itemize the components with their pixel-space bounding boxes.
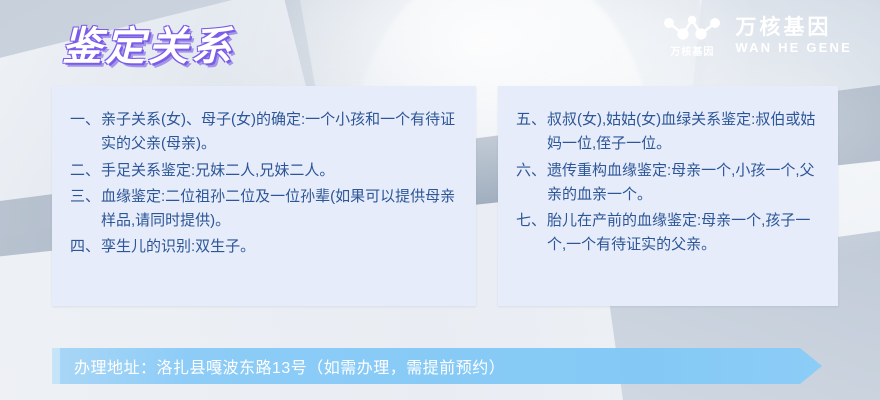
list-item: 三、 血缘鉴定:二位祖孙二位及一位孙辈(如果可以提供母亲样品,请同时提供)。 <box>70 185 458 234</box>
list-item-text: 遗传重构血缘鉴定:母亲一个,小孩一个,父亲的血亲一个。 <box>547 159 820 208</box>
content-panels: 一、 亲子关系(女)、母子(女)的确定:一个小孩和一个有待证实的父亲(母亲)。 … <box>52 86 838 306</box>
header: 鉴定关系 <box>0 0 880 86</box>
brand-mark-label: 万核基因 <box>670 43 714 58</box>
relationship-list-right: 五、 叔叔(女),姑姑(女)血绿关系鉴定:叔伯或姑妈一位,侄子一位。 六、 遗传… <box>516 108 820 258</box>
molecule-nodes-icon <box>663 14 721 40</box>
list-item-number: 七、 <box>516 209 547 233</box>
relationship-panel-left: 一、 亲子关系(女)、母子(女)的确定:一个小孩和一个有待证实的父亲(母亲)。 … <box>52 86 476 306</box>
poster-root: 鉴定关系 <box>0 0 880 400</box>
brand-logo: 万核基因 万核基因 WAN HE GENE <box>663 14 852 58</box>
address-banner: 办理地址：洛扎县嘎波东路13号（如需办理，需提前预约） <box>52 348 822 384</box>
list-item: 二、 手足关系鉴定:兄妹二人,兄妹二人。 <box>70 159 458 183</box>
list-item-text: 亲子关系(女)、母子(女)的确定:一个小孩和一个有待证实的父亲(母亲)。 <box>101 108 458 157</box>
address-banner-left-cap <box>52 348 60 384</box>
brand-names: 万核基因 WAN HE GENE <box>735 16 852 55</box>
list-item-number: 六、 <box>516 159 547 183</box>
list-item-number: 二、 <box>70 159 101 183</box>
list-item: 一、 亲子关系(女)、母子(女)的确定:一个小孩和一个有待证实的父亲(母亲)。 <box>70 108 458 157</box>
list-item-text: 叔叔(女),姑姑(女)血绿关系鉴定:叔伯或姑妈一位,侄子一位。 <box>547 108 820 157</box>
list-item: 七、 胎儿在产前的血缘鉴定:母亲一个,孩子一个,一个有待证实的父亲。 <box>516 209 820 258</box>
list-item: 五、 叔叔(女),姑姑(女)血绿关系鉴定:叔伯或姑妈一位,侄子一位。 <box>516 108 820 157</box>
brand-mark: 万核基因 <box>663 14 721 58</box>
list-item-text: 孪生儿的识别:双生子。 <box>101 235 458 259</box>
address-text: 办理地址：洛扎县嘎波东路13号（如需办理，需提前预约） <box>74 348 505 384</box>
page-title: 鉴定关系 <box>62 14 234 72</box>
list-item-text: 胎儿在产前的血缘鉴定:母亲一个,孩子一个,一个有待证实的父亲。 <box>547 209 820 258</box>
list-item-number: 四、 <box>70 235 101 259</box>
list-item: 四、 孪生儿的识别:双生子。 <box>70 235 458 259</box>
brand-name-en: WAN HE GENE <box>735 41 852 55</box>
list-item-number: 三、 <box>70 185 101 209</box>
list-item-number: 五、 <box>516 108 547 132</box>
list-item: 六、 遗传重构血缘鉴定:母亲一个,小孩一个,父亲的血亲一个。 <box>516 159 820 208</box>
relationship-list-left: 一、 亲子关系(女)、母子(女)的确定:一个小孩和一个有待证实的父亲(母亲)。 … <box>70 108 458 260</box>
list-item-text: 手足关系鉴定:兄妹二人,兄妹二人。 <box>101 159 458 183</box>
relationship-panel-right: 五、 叔叔(女),姑姑(女)血绿关系鉴定:叔伯或姑妈一位,侄子一位。 六、 遗传… <box>498 86 838 306</box>
list-item-number: 一、 <box>70 108 101 132</box>
brand-name-cn: 万核基因 <box>735 16 831 39</box>
list-item-text: 血缘鉴定:二位祖孙二位及一位孙辈(如果可以提供母亲样品,请同时提供)。 <box>101 185 458 234</box>
